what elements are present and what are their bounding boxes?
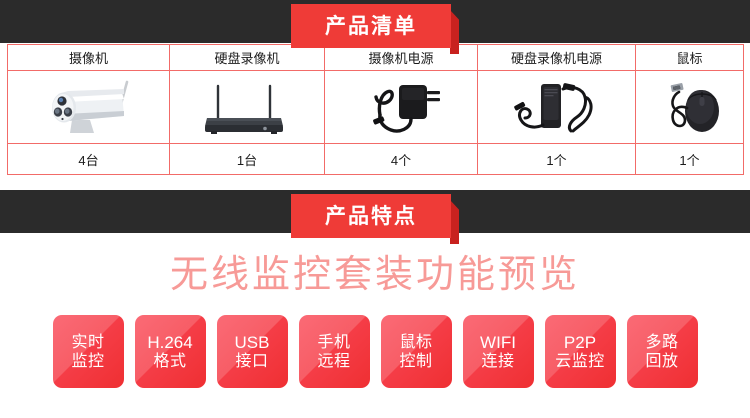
- table-header-cell-mouse: 鼠标: [636, 45, 744, 71]
- table-cell-qty-nvr: 1台: [170, 144, 325, 175]
- nvr-recorder-image: [191, 76, 303, 138]
- feature-tag-line1: 鼠标: [399, 333, 432, 352]
- product-features-banner-label: 产品特点: [325, 206, 417, 227]
- feature-tag-mouse-control[interactable]: 鼠标 控制: [381, 315, 452, 388]
- feature-tag-line2: 接口: [235, 352, 268, 371]
- product-list-table: 摄像机 硬盘录像机 摄像机电源 硬盘录像机电源 鼠标: [7, 44, 744, 175]
- feature-tag-line2: 云监控: [555, 352, 605, 371]
- feature-tag-multichannel-playback[interactable]: 多路 回放: [627, 315, 698, 388]
- feature-tag-line2: 格式: [153, 352, 186, 371]
- product-list-banner-label: 产品清单: [325, 16, 417, 37]
- feature-tag-mobile-remote[interactable]: 手机 远程: [299, 315, 370, 388]
- table-quantity-row: 4台 1台 4个 1个 1个: [8, 144, 744, 175]
- banner-fold-shape: [450, 200, 459, 244]
- usb-mouse-image: [647, 76, 733, 138]
- product-list-banner: 产品清单: [291, 4, 459, 48]
- features-title: 无线监控套装功能预览: [0, 256, 750, 294]
- camera-power-adapter-image: [347, 75, 455, 139]
- feature-tag-line1: H.264: [147, 333, 192, 352]
- table-header-row: 摄像机 硬盘录像机 摄像机电源 硬盘录像机电源 鼠标: [8, 45, 744, 71]
- feature-tag-usb-interface[interactable]: USB 接口: [217, 315, 288, 388]
- table-cell-qty-mouse: 1个: [636, 144, 744, 175]
- feature-tag-p2p-cloud-monitor[interactable]: P2P 云监控: [545, 315, 616, 388]
- feature-tag-list: 实时 监控 H.264 格式 USB 接口 手机 远程 鼠标 控制 WIFI 连…: [0, 315, 750, 388]
- table-cell-camera-power-image: [325, 71, 478, 144]
- feature-tag-line2: 控制: [399, 352, 432, 371]
- banner-fold-shape: [450, 10, 459, 54]
- nvr-power-adapter-image: [497, 75, 617, 139]
- feature-tag-line2: 连接: [481, 352, 514, 371]
- feature-tag-line1: 手机: [317, 333, 350, 352]
- feature-tag-line2: 回放: [645, 352, 678, 371]
- table-cell-nvr-power-image: [478, 71, 636, 144]
- feature-tag-wifi-connection[interactable]: WIFI 连接: [463, 315, 534, 388]
- table-header-cell-camera: 摄像机: [8, 45, 170, 71]
- feature-tag-line1: 实时: [71, 333, 104, 352]
- table-cell-nvr-image: [170, 71, 325, 144]
- banner-plate: 产品特点: [291, 194, 451, 238]
- table-cell-mouse-image: [636, 71, 744, 144]
- banner-plate: 产品清单: [291, 4, 451, 48]
- feature-tag-line2: 监控: [71, 352, 104, 371]
- table-cell-camera-image: [8, 71, 170, 144]
- feature-tag-line1: WIFI: [480, 333, 516, 352]
- feature-tag-line1: P2P: [564, 333, 596, 352]
- feature-tag-line1: USB: [235, 333, 270, 352]
- feature-tag-line1: 多路: [645, 333, 678, 352]
- feature-tag-realtime-monitor[interactable]: 实时 监控: [53, 315, 124, 388]
- product-features-banner: 产品特点: [291, 194, 459, 238]
- table-header-cell-nvr: 硬盘录像机: [170, 45, 325, 71]
- feature-tag-h264-format[interactable]: H.264 格式: [135, 315, 206, 388]
- table-cell-qty-nvr-power: 1个: [478, 144, 636, 175]
- table-cell-qty-camera: 4台: [8, 144, 170, 175]
- bullet-camera-image: [28, 76, 150, 138]
- table-cell-qty-camera-power: 4个: [325, 144, 478, 175]
- table-image-row: [8, 71, 744, 144]
- feature-tag-line2: 远程: [317, 352, 350, 371]
- table-header-cell-nvr-power: 硬盘录像机电源: [478, 45, 636, 71]
